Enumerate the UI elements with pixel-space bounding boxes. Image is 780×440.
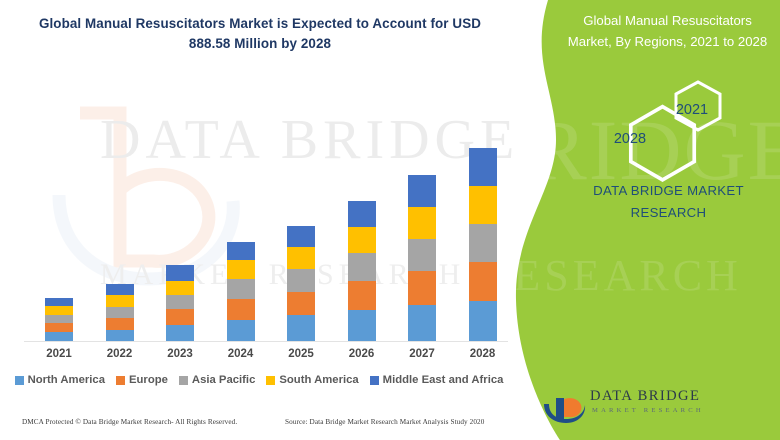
segment-europe [227,299,255,320]
bar-2022[interactable] [106,284,134,341]
segment-asia-pacific [348,253,376,281]
legend-item-south-america[interactable]: South America [266,374,358,386]
x-label-2022: 2022 [90,348,150,360]
legend-swatch-icon [15,376,24,385]
hexagon-2028-label: 2028 [600,131,660,147]
segment-north-america [348,310,376,341]
segment-north-america [166,325,194,341]
infographic-canvas: BRIDGE RESEARCH 2028 2021 Global Manual … [0,0,780,440]
hexagon-2021-label: 2021 [662,102,722,118]
legend-item-north-america[interactable]: North America [15,374,105,386]
segment-europe [408,271,436,304]
segment-asia-pacific [227,279,255,298]
bar-2021[interactable] [45,298,73,341]
segment-middle-east-and-africa [287,226,315,247]
legend-swatch-icon [370,376,379,385]
segment-south-america [106,295,134,306]
segment-europe [469,262,497,301]
legend-label: North America [28,374,105,386]
segment-south-america [287,247,315,269]
chart-area: Global Manual Resuscitators Market is Ex… [0,0,530,440]
x-label-2027: 2027 [392,348,452,360]
segment-south-america [45,306,73,315]
segment-asia-pacific [166,295,194,309]
chart-legend: North AmericaEuropeAsia PacificSouth Ame… [0,374,518,386]
segment-middle-east-and-africa [408,175,436,207]
bar-2025[interactable] [287,226,315,341]
segment-south-america [348,227,376,253]
segment-asia-pacific [106,307,134,318]
x-label-2028: 2028 [453,348,513,360]
segment-asia-pacific [469,224,497,262]
segment-middle-east-and-africa [227,242,255,260]
bar-2024[interactable] [227,242,255,341]
logo-name: DATA BRIDGE [590,388,700,405]
logo-mark-icon [540,382,588,426]
segment-middle-east-and-africa [348,201,376,227]
bar-2028[interactable] [469,148,497,341]
segment-north-america [408,305,436,341]
legend-label: Asia Pacific [192,374,255,386]
segment-europe [45,323,73,332]
segment-europe [348,281,376,310]
panel-title: Global Manual Resuscitators Market, By R… [560,10,775,52]
legend-item-asia-pacific[interactable]: Asia Pacific [179,374,255,386]
segment-middle-east-and-africa [166,265,194,281]
segment-middle-east-and-africa [45,298,73,306]
data-bridge-logo: DATA BRIDGE MARKET RESEARCH [540,382,770,428]
segment-south-america [227,260,255,279]
segment-asia-pacific [408,239,436,272]
legend-item-europe[interactable]: Europe [116,374,168,386]
legend-item-middle-east-and-africa[interactable]: Middle East and Africa [370,374,504,386]
bar-2026[interactable] [348,201,376,341]
segment-north-america [469,301,497,342]
segment-north-america [45,332,73,341]
legend-swatch-icon [266,376,275,385]
x-label-2025: 2025 [271,348,331,360]
segment-middle-east-and-africa [469,148,497,186]
x-label-2023: 2023 [150,348,210,360]
legend-label: Middle East and Africa [383,374,504,386]
segment-middle-east-and-africa [106,284,134,295]
x-label-2021: 2021 [29,348,89,360]
segment-south-america [408,207,436,239]
segment-north-america [106,330,134,341]
legend-label: Europe [129,374,168,386]
segment-europe [166,309,194,325]
bar-2023[interactable] [166,265,194,341]
segment-south-america [469,186,497,224]
legend-label: South America [279,374,358,386]
legend-swatch-icon [179,376,188,385]
x-axis-line [24,341,508,342]
segment-north-america [287,315,315,341]
footer-source-note: Source: Data Bridge Market Research Mark… [285,418,484,426]
segment-asia-pacific [45,315,73,324]
segment-europe [106,318,134,329]
segment-europe [287,292,315,316]
segment-north-america [227,320,255,341]
x-label-2024: 2024 [211,348,271,360]
footer-dmca-notice: DMCA Protected © Data Bridge Market Rese… [22,418,237,426]
x-label-2026: 2026 [332,348,392,360]
segment-south-america [166,281,194,295]
panel-brand-name: DATA BRIDGE MARKET RESEARCH [566,180,771,224]
segment-asia-pacific [287,269,315,292]
bar-2027[interactable] [408,175,436,341]
logo-subtitle: MARKET RESEARCH [592,407,704,414]
legend-swatch-icon [116,376,125,385]
